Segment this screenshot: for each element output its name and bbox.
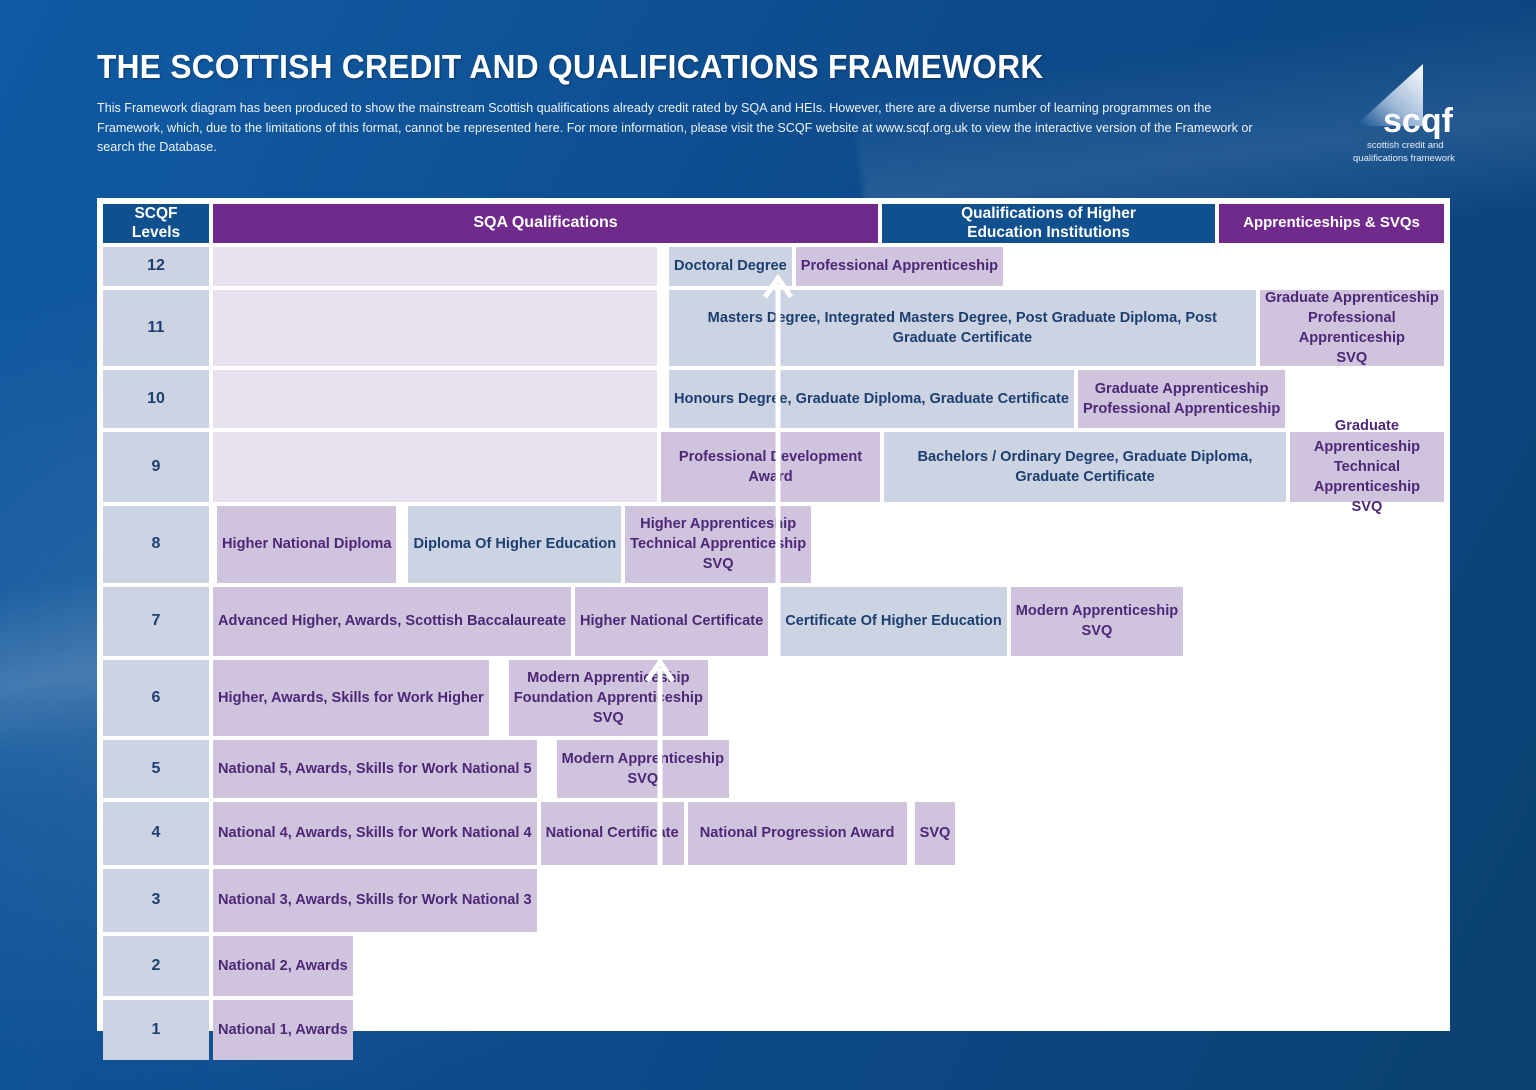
table-row: 5National 5, Awards, Skills for Work Nat… bbox=[103, 740, 1444, 798]
cell-text-line: Higher, Awards, Skills for Work Higher bbox=[218, 688, 484, 708]
cell-text-line: SVQ bbox=[627, 769, 658, 789]
header-scqf-levels: SCQF Levels bbox=[103, 204, 209, 243]
app-cell-10: Graduate ApprenticeshipProfessional Appr… bbox=[1078, 370, 1285, 428]
table-row: 4National 4, Awards, Skills for Work Nat… bbox=[103, 802, 1444, 865]
cell-text-line: SVQ bbox=[703, 554, 734, 574]
cell-text-line: Professional Apprenticeship bbox=[1083, 399, 1280, 419]
app-cell-9: Graduate ApprenticeshipTechnical Apprent… bbox=[1290, 432, 1444, 502]
header-hei-line2: Education Institutions bbox=[961, 223, 1136, 242]
sqa-col-a-5: National 5, Awards, Skills for Work Nati… bbox=[213, 740, 537, 798]
sqa-col-cd-4: National Progression Award bbox=[688, 802, 907, 865]
sqa-empty-merged-9 bbox=[213, 432, 657, 502]
logo-line2: qualifications framework bbox=[1353, 153, 1455, 164]
hei-cell-8: Diploma Of Higher Education bbox=[408, 506, 621, 583]
cell-text-line: Bachelors / Ordinary Degree, Graduate Di… bbox=[889, 447, 1281, 487]
level-cell-12: 12 bbox=[103, 247, 209, 286]
header-hei-qualifications: Qualifications of Higher Education Insti… bbox=[882, 204, 1215, 243]
cell-text-line: Higher National Diploma bbox=[222, 534, 391, 554]
cell-text-line: National 3, Awards, Skills for Work Nati… bbox=[218, 890, 532, 910]
sqa-col-a-6: Higher, Awards, Skills for Work Higher bbox=[213, 660, 489, 736]
level-cell-9: 9 bbox=[103, 432, 209, 502]
intro-paragraph: This Framework diagram has been produced… bbox=[97, 99, 1277, 158]
level-cell-5: 5 bbox=[103, 740, 209, 798]
cell-text-line: National Certificate bbox=[546, 823, 679, 843]
cell-text-line: Graduate Apprenticeship bbox=[1265, 288, 1439, 308]
table-row: 12Doctoral DegreeProfessional Apprentice… bbox=[103, 247, 1444, 286]
sqa-col-a-7: Advanced Higher, Awards, Scottish Baccal… bbox=[213, 587, 571, 656]
cell-text-line: National 4, Awards, Skills for Work Nati… bbox=[218, 823, 532, 843]
header-apprenticeships: Apprenticeships & SVQs bbox=[1219, 204, 1444, 243]
table-row: 1National 1, Awards bbox=[103, 1000, 1444, 1060]
cell-text-line: SVQ bbox=[920, 823, 951, 843]
cell-text-line: National Progression Award bbox=[700, 823, 895, 843]
cell-text-line: Technical Apprenticeship bbox=[1295, 457, 1439, 497]
logo-line1: scottish credit and bbox=[1367, 140, 1444, 151]
cell-text-line: Certificate Of Higher Education bbox=[785, 611, 1002, 631]
app-cell-12: Professional Apprenticeship bbox=[796, 247, 1003, 286]
poster-header: THE SCOTTISH CREDIT AND QUALIFICATIONS F… bbox=[97, 48, 1297, 158]
table-row: 3National 3, Awards, Skills for Work Nat… bbox=[103, 869, 1444, 932]
sqa-empty-merged-10 bbox=[213, 370, 657, 428]
cell-text-line: Modern Apprenticeship bbox=[527, 668, 689, 688]
table-body: 12Doctoral DegreeProfessional Apprentice… bbox=[103, 247, 1444, 1060]
poster-root: THE SCOTTISH CREDIT AND QUALIFICATIONS F… bbox=[0, 0, 1536, 1090]
cell-text-line: Masters Degree, Integrated Masters Degre… bbox=[674, 308, 1251, 348]
cell-text-line: Graduate Apprenticeship bbox=[1295, 416, 1439, 456]
cell-text-line: SVQ bbox=[593, 708, 624, 728]
level-cell-1: 1 bbox=[103, 1000, 209, 1060]
level-cell-8: 8 bbox=[103, 506, 209, 583]
cell-text-line: National 2, Awards bbox=[218, 956, 348, 976]
cell-text-line: National 5, Awards, Skills for Work Nati… bbox=[218, 759, 532, 779]
cell-text-line: Modern Apprenticeship bbox=[562, 749, 724, 769]
hei-cell-10: Honours Degree, Graduate Diploma, Gradua… bbox=[669, 370, 1074, 428]
hei-cell-12: Doctoral Degree bbox=[669, 247, 792, 286]
hei-cell-9: Bachelors / Ordinary Degree, Graduate Di… bbox=[884, 432, 1286, 502]
app-cell-7: Modern ApprenticeshipSVQ bbox=[1011, 587, 1183, 656]
cell-text-line: Foundation Apprenticeship bbox=[514, 688, 703, 708]
table-header-row: SCQF Levels SQA Qualifications Qualifica… bbox=[103, 204, 1444, 243]
sqa-col-a-4: National 4, Awards, Skills for Work Nati… bbox=[213, 802, 537, 865]
cell-text-line: Technical Apprenticeship bbox=[630, 534, 806, 554]
table-row: 6Higher, Awards, Skills for Work HigherM… bbox=[103, 660, 1444, 736]
table-row: 10Honours Degree, Graduate Diploma, Grad… bbox=[103, 370, 1444, 428]
cell-text-line: Higher National Certificate bbox=[580, 611, 763, 631]
cell-text-line: Professional Apprenticeship bbox=[1265, 308, 1439, 348]
scqf-logo-icon: scqf scottish credit and qualifications … bbox=[1345, 62, 1465, 174]
cell-text-line: SVQ bbox=[1082, 621, 1113, 641]
sqa-empty-merged-12 bbox=[213, 247, 657, 286]
page-title: THE SCOTTISH CREDIT AND QUALIFICATIONS F… bbox=[97, 48, 1249, 86]
hei-cell-7: Certificate Of Higher Education bbox=[780, 587, 1007, 656]
cell-text-line: Graduate Apprenticeship bbox=[1095, 379, 1269, 399]
table-row: 11Masters Degree, Integrated Masters Deg… bbox=[103, 290, 1444, 366]
header-levels-line1: SCQF bbox=[132, 204, 180, 223]
level-cell-3: 3 bbox=[103, 869, 209, 932]
sqa-col-cd-9: Professional Development Award bbox=[661, 432, 880, 502]
sqa-col-b-7: Higher National Certificate bbox=[575, 587, 768, 656]
header-levels-line2: Levels bbox=[132, 223, 180, 242]
table-row: 8Higher National DiplomaDiploma Of Highe… bbox=[103, 506, 1444, 583]
cell-text-line: Doctoral Degree bbox=[674, 256, 787, 276]
cell-text-line: National 1, Awards bbox=[218, 1020, 348, 1040]
table-row: 9Professional Development AwardBachelors… bbox=[103, 432, 1444, 502]
scqf-logo: scqf scottish credit and qualifications … bbox=[1345, 62, 1465, 174]
app-cell-6: Modern ApprenticeshipFoundation Apprenti… bbox=[509, 660, 708, 736]
header-sqa-qualifications: SQA Qualifications bbox=[213, 204, 878, 243]
app-cell-11: Graduate ApprenticeshipProfessional Appr… bbox=[1260, 290, 1444, 366]
cell-text-line: SVQ bbox=[1336, 348, 1367, 368]
header-hei-line1: Qualifications of Higher bbox=[961, 204, 1136, 223]
table-row: 2National 2, Awards bbox=[103, 936, 1444, 996]
level-cell-2: 2 bbox=[103, 936, 209, 996]
level-cell-10: 10 bbox=[103, 370, 209, 428]
cell-text-line: Honours Degree, Graduate Diploma, Gradua… bbox=[674, 389, 1069, 409]
cell-text-line: Professional Development Award bbox=[666, 447, 875, 487]
sqa-col-a-1: National 1, Awards bbox=[213, 1000, 353, 1060]
cell-text-line: Diploma Of Higher Education bbox=[413, 534, 616, 554]
sqa-col-b-8: Higher National Diploma bbox=[217, 506, 396, 583]
cell-text-line: Modern Apprenticeship bbox=[1016, 601, 1178, 621]
app-cell-8: Higher ApprenticeshipTechnical Apprentic… bbox=[625, 506, 811, 583]
level-cell-4: 4 bbox=[103, 802, 209, 865]
cell-text-line: Professional Apprenticeship bbox=[801, 256, 998, 276]
cell-text-line: Higher Apprenticeship bbox=[640, 514, 796, 534]
level-cell-7: 7 bbox=[103, 587, 209, 656]
cell-text-line: Advanced Higher, Awards, Scottish Baccal… bbox=[218, 611, 566, 631]
framework-table: SCQF Levels SQA Qualifications Qualifica… bbox=[97, 198, 1450, 1031]
app-cell-4: SVQ bbox=[915, 802, 956, 865]
level-cell-6: 6 bbox=[103, 660, 209, 736]
level-cell-11: 11 bbox=[103, 290, 209, 366]
sqa-empty-merged-11 bbox=[213, 290, 657, 366]
sqa-col-b-4: National Certificate bbox=[541, 802, 684, 865]
sqa-col-a-2: National 2, Awards bbox=[213, 936, 353, 996]
hei-cell-11: Masters Degree, Integrated Masters Degre… bbox=[669, 290, 1256, 366]
svg-text:scqf: scqf bbox=[1383, 102, 1454, 140]
table-row: 7Advanced Higher, Awards, Scottish Bacca… bbox=[103, 587, 1444, 656]
framework-grid: SCQF Levels SQA Qualifications Qualifica… bbox=[103, 204, 1444, 1025]
app-cell-5: Modern ApprenticeshipSVQ bbox=[557, 740, 729, 798]
sqa-col-a-3: National 3, Awards, Skills for Work Nati… bbox=[213, 869, 537, 932]
